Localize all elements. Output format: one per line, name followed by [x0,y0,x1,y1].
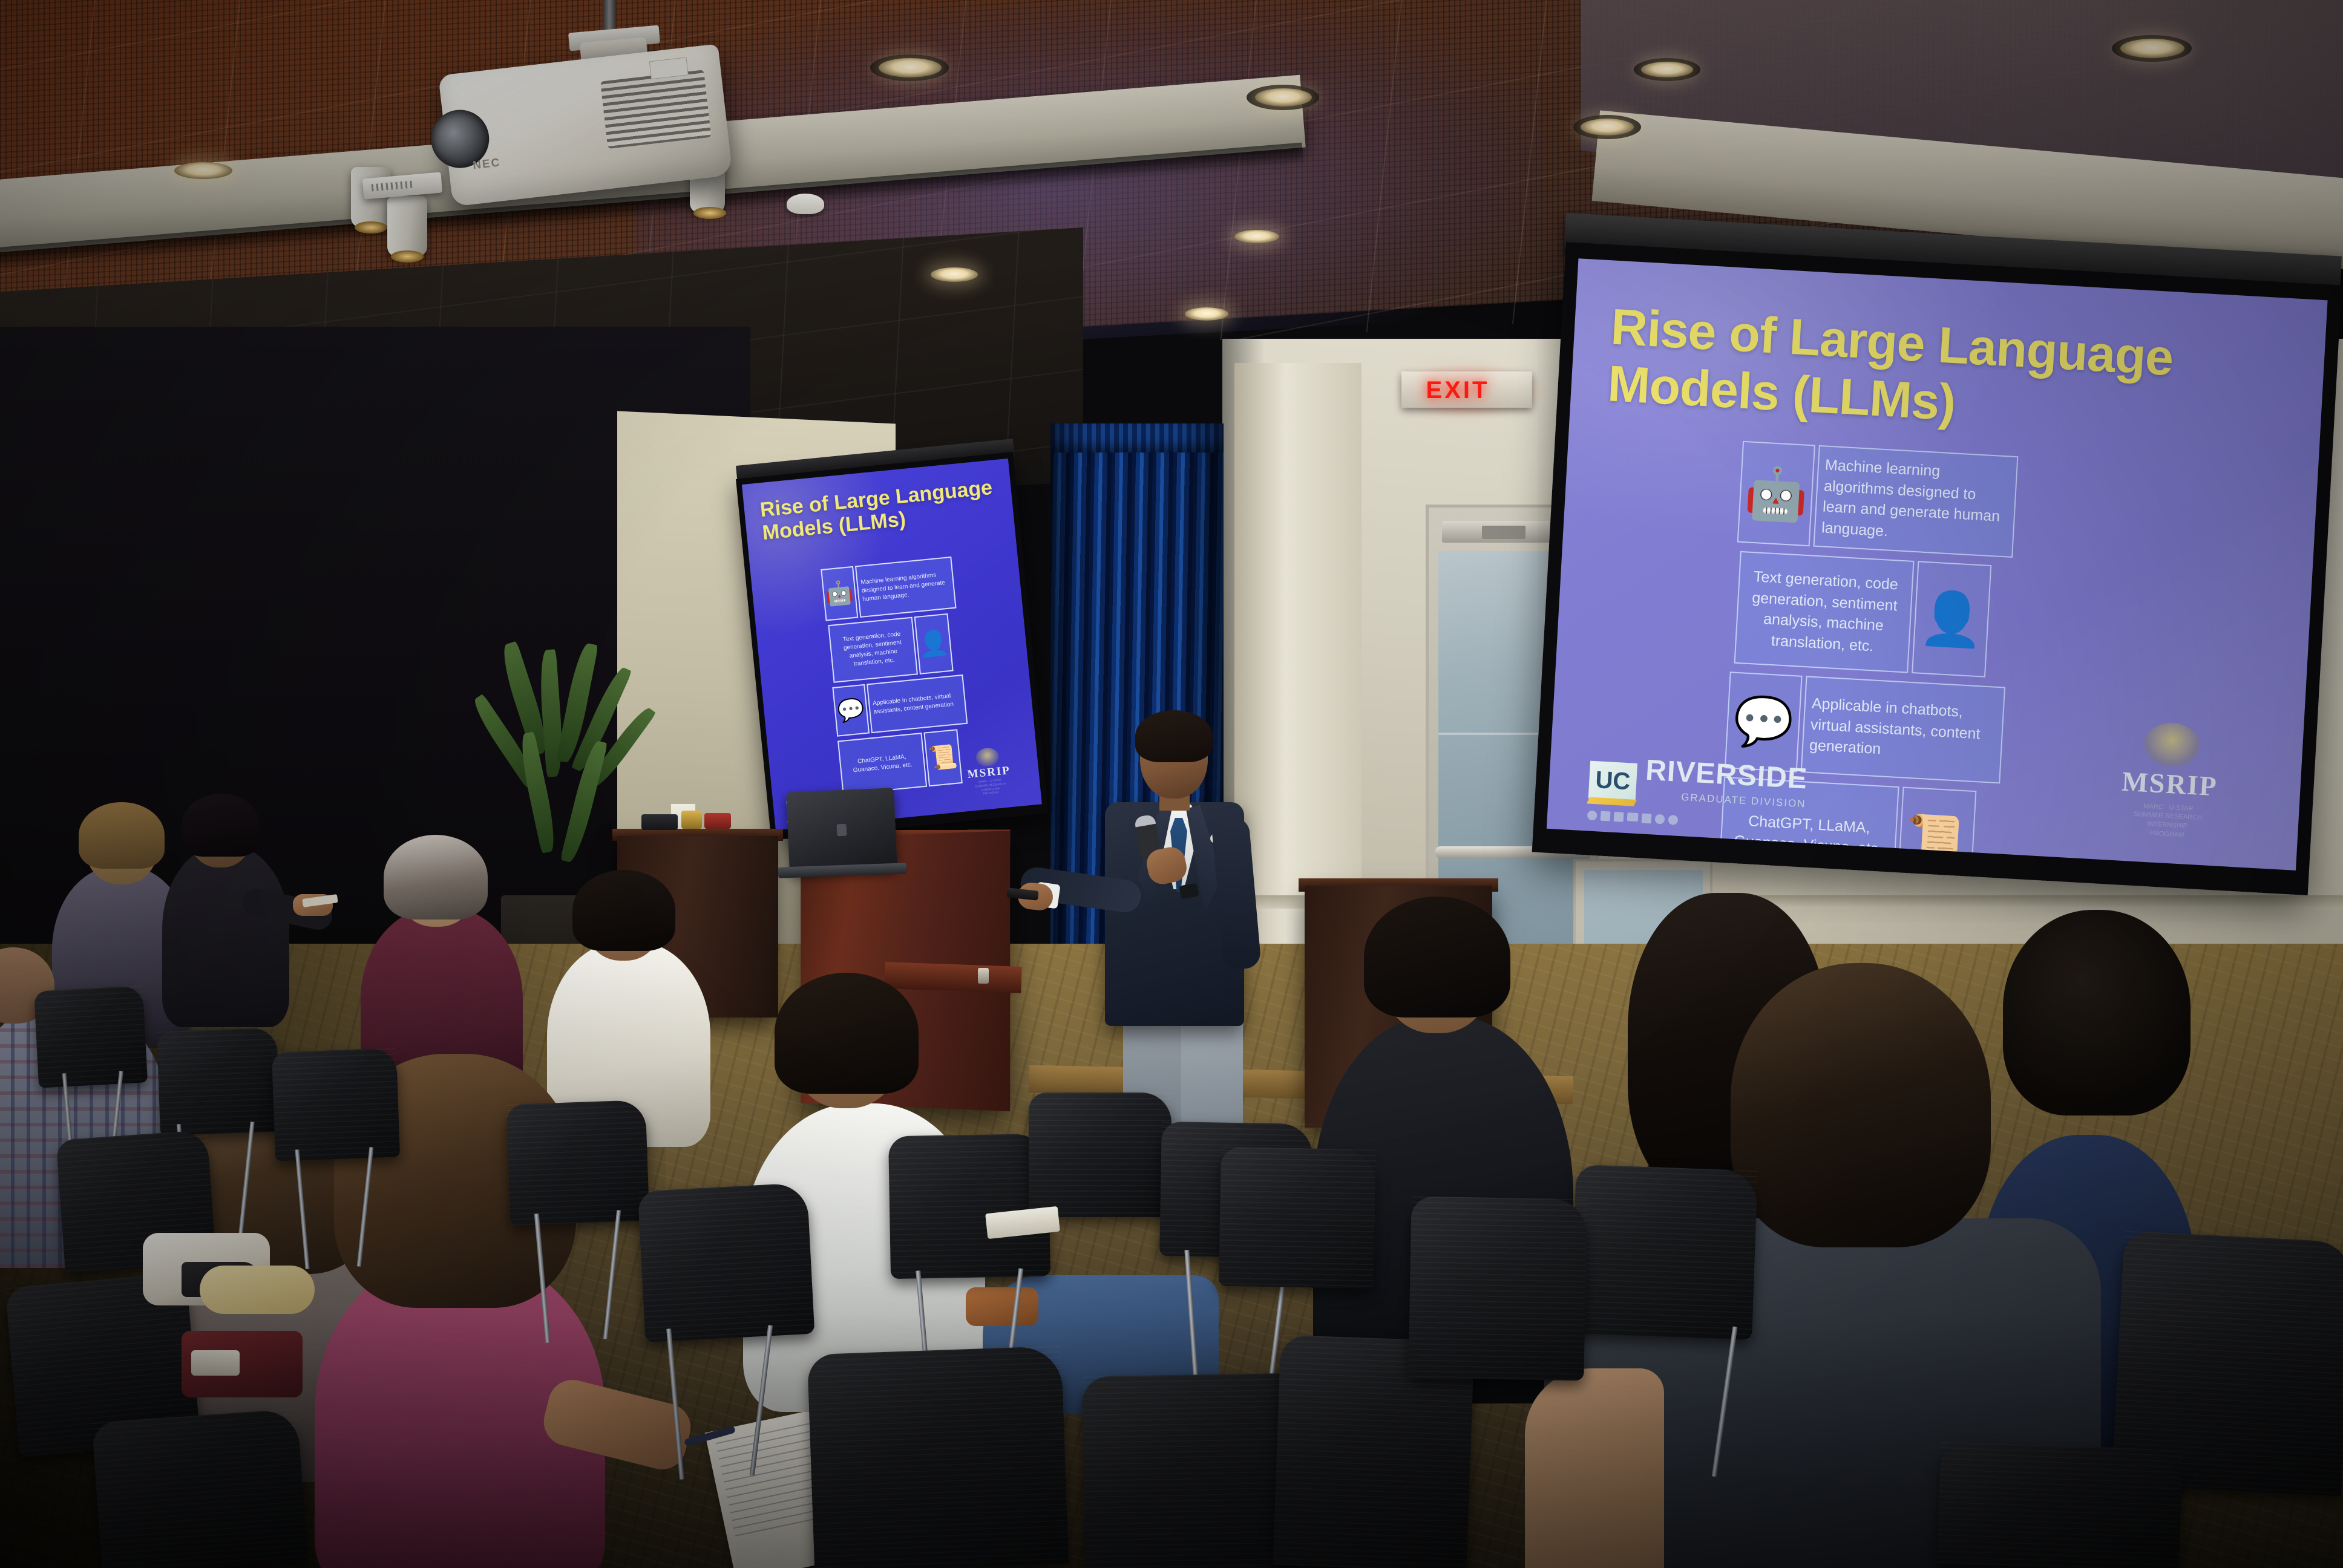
msrip-crest-icon [2143,721,2201,768]
scroll-document-icon: 📜 [923,729,963,786]
ceiling-downlight [1641,62,1693,77]
bag-item [200,1266,315,1314]
ucr-social-icons [1587,810,1679,825]
lecture-hall-photo: NEC EXIT [0,0,2343,1568]
msrip-logo: MSRIP MARC · U-STAR SUMMER RESEARCH INTE… [958,745,1020,799]
slide-box-text: Applicable in chatbots, virtual assistan… [1801,676,2005,783]
robot-icon: 🤖 [1737,441,1815,546]
slide-2-box-text: Text generation, code generation, sentim… [828,617,918,683]
ceiling-downlight [879,58,942,77]
slide-2-box-text: Machine learning algorithms designed to … [855,557,957,618]
slide-2-box-text: Applicable in chatbots, virtual assistan… [867,675,968,733]
robot-icon: 🤖 [821,566,858,621]
exit-sign: EXIT [1412,376,1503,404]
ucr-logo-mark: UC [1588,761,1637,801]
secondary-projection-screen: Rise of Large Language Models (LLMs) 🤖 M… [736,452,1048,840]
ceiling-downlight [174,162,232,179]
slide-main: Rise of Large Language Models (LLMs) 🤖 M… [1547,258,2328,871]
chair[interactable] [638,1183,815,1342]
cabinet-items [641,809,744,834]
slide-box-text: Text generation, code generation, sentim… [1734,551,1915,673]
chair[interactable] [1408,1196,1587,1380]
ceiling-downlight [1234,230,1279,243]
slide-box-text: Machine learning algorithms designed to … [1814,445,2019,558]
msrip-logo: MSRIP MARC · U-STAR SUMMER RESEARCH INTE… [2094,719,2246,843]
slide-box-row: 🤖 Machine learning algorithms designed t… [1737,441,2117,563]
ceiling-downlight [1581,119,1634,136]
ceiling-downlight [2120,39,2184,58]
chair[interactable] [157,1028,280,1136]
chair[interactable] [34,985,148,1088]
lectern-shelf [884,962,1021,993]
chat-bubble-icon: 💬 [1725,671,1803,772]
paper-item [191,1350,240,1376]
chair[interactable] [807,1346,1069,1568]
person-at-laptop-icon: 👤 [1912,561,1991,678]
chat-bubble-icon: 💬 [832,684,870,737]
person-at-laptop-icon: 👤 [914,613,954,675]
main-projection-screen: Rise of Large Language Models (LLMs) 🤖 M… [1532,242,2342,895]
chair[interactable] [1029,1093,1171,1217]
projector-brand-text: NEC [472,156,501,172]
chair[interactable] [888,1134,1050,1279]
chair[interactable] [1937,1442,2183,1568]
chair[interactable] [1570,1165,1758,1340]
chair[interactable] [506,1100,650,1226]
chair[interactable] [272,1048,400,1161]
msrip-crest-icon [975,747,1000,768]
chair[interactable] [92,1408,308,1568]
presenter-laptop[interactable] [786,788,897,874]
attendee-arm [1525,1368,1664,1568]
spot-light [387,196,427,256]
scroll-document-icon: 📜 [1897,786,1977,870]
projector-vent-icon [600,70,712,149]
attendee-shoe [966,1287,1038,1326]
laptop-logo-icon [837,824,847,837]
chair[interactable] [1219,1147,1376,1289]
presenter-hair [1135,710,1213,762]
slide-secondary: Rise of Large Language Models (LLMs) 🤖 M… [742,459,1042,830]
lectern-lock-icon [978,968,989,984]
smoke-detector-icon [787,194,824,214]
projector-mount-pole [603,0,616,33]
slide-2-box-text: ChatGPT, LLaMA, Guanaco, Vicuna, etc. [837,733,927,795]
ceiling-downlight [931,267,978,282]
ceiling-downlight [1185,307,1228,321]
ceiling-downlight [1255,88,1312,106]
msrip-logo-wordmark: MSRIP [2096,763,2243,803]
slide-box-row: Text generation, code generation, sentim… [1734,551,2111,684]
msrip-logo-subtitle: MARC · U-STAR SUMMER RESEARCH INTERNSHIP… [2094,799,2241,843]
